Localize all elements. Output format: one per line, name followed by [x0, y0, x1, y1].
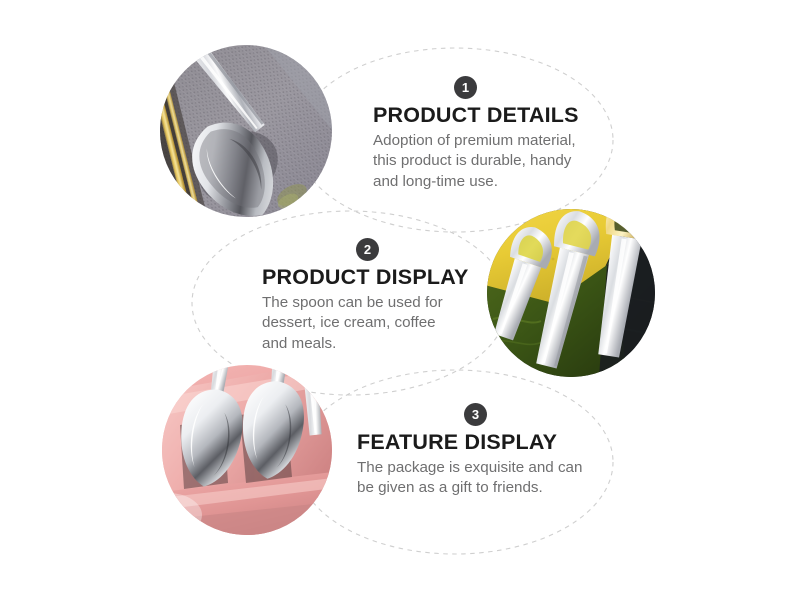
- section-heading-1: PRODUCT DETAILS: [373, 103, 603, 128]
- section-heading-3: FEATURE DISPLAY: [357, 430, 593, 455]
- section-body-1: Adoption of premium material, this produ…: [373, 131, 603, 193]
- section-product-display: 2 PRODUCT DISPLAY The spoon can be used …: [262, 238, 494, 355]
- section-body-2: The spoon can be used for dessert, ice c…: [262, 293, 494, 355]
- section-number-badge-1: 1: [454, 76, 477, 99]
- infographic-canvas: 1 PRODUCT DETAILS Adoption of premium ma…: [0, 0, 810, 590]
- section-heading-2: PRODUCT DISPLAY: [262, 265, 494, 290]
- section-number-badge-3: 3: [464, 403, 487, 426]
- text-layer: 1 PRODUCT DETAILS Adoption of premium ma…: [0, 0, 810, 590]
- section-feature-display: 3 FEATURE DISPLAY The package is exquisi…: [357, 403, 593, 499]
- section-body-3: The package is exquisite and can be give…: [357, 458, 593, 499]
- section-product-details: 1 PRODUCT DETAILS Adoption of premium ma…: [373, 76, 603, 193]
- section-number-badge-2: 2: [356, 238, 379, 261]
